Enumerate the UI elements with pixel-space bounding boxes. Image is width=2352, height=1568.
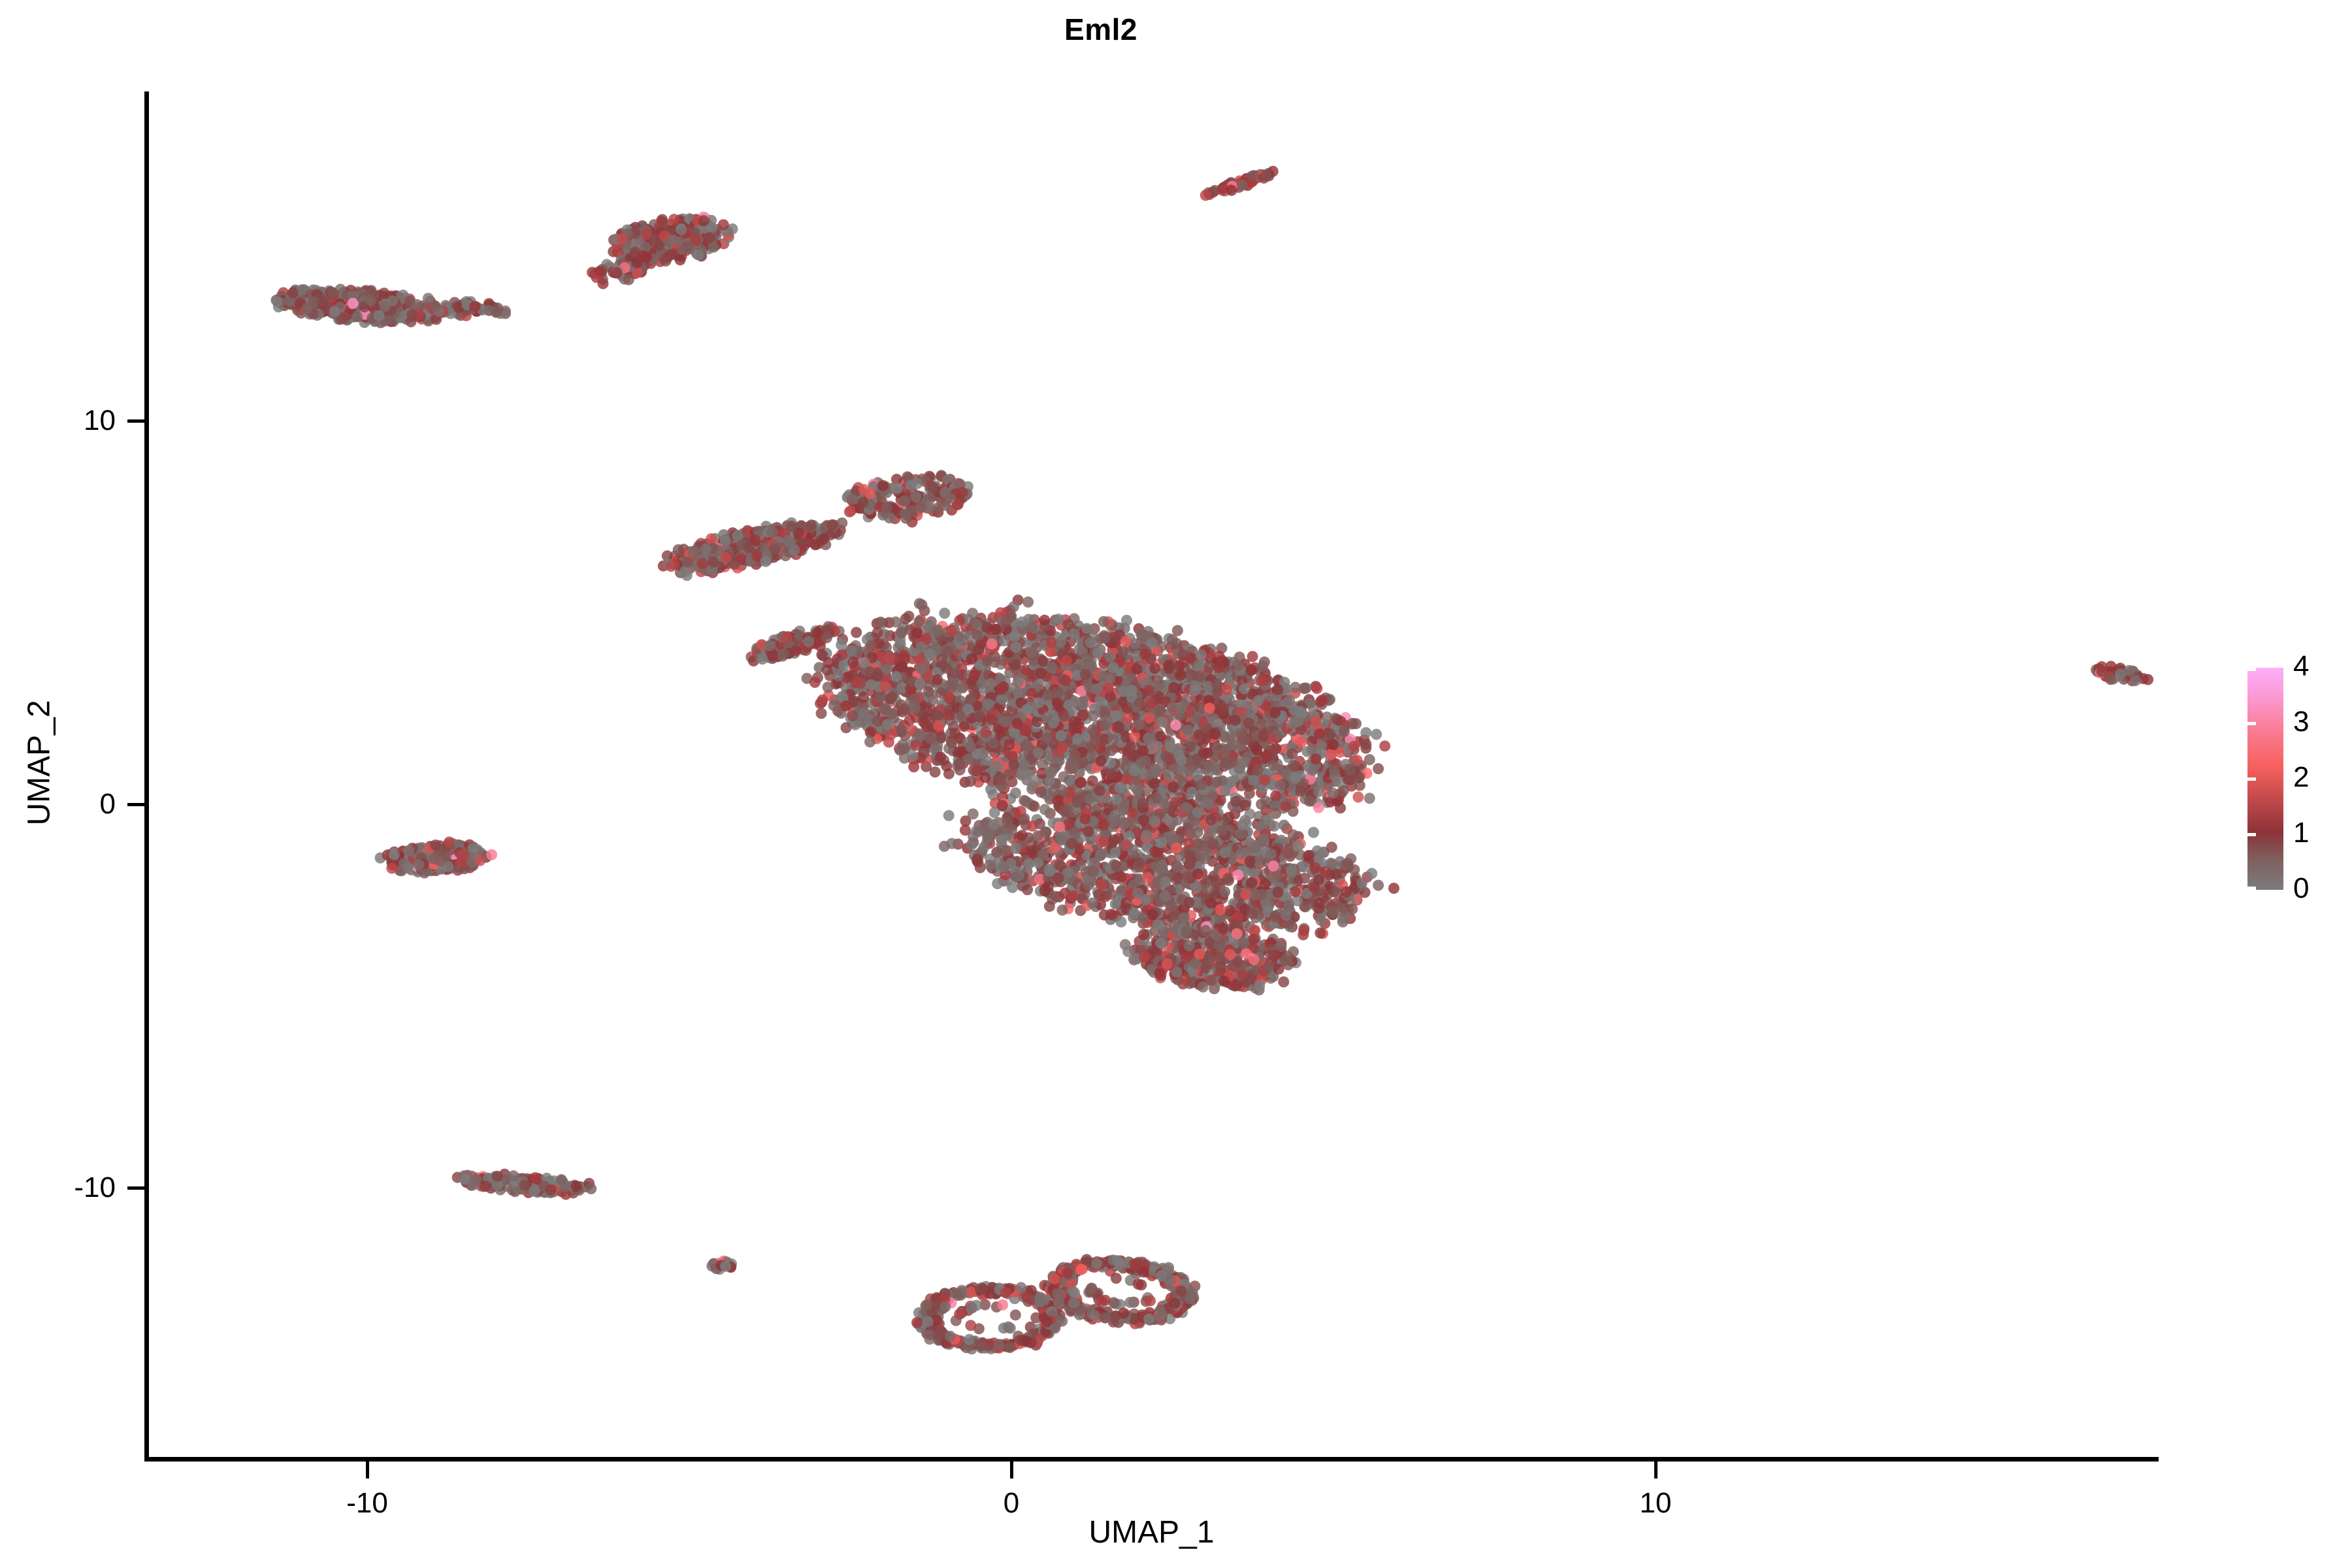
colorbar-tick-mark [2247,777,2256,781]
colorbar-tick-mark [2337,833,2345,836]
scatter-points-layer [144,91,2159,1461]
colorbar-label: 3 [2293,708,2309,736]
x-tick-label: 10 [1590,1489,1721,1518]
x-tick-mark [1010,1462,1013,1478]
colorbar-tick-mark [2337,887,2345,890]
page-title: Eml2 [0,12,2202,47]
y-axis-title: UMAP_2 [22,371,57,1155]
y-axis-line [144,91,149,1461]
plot-panel [144,91,2159,1461]
x-axis-line [144,1457,2159,1462]
umap-feature-plot: Eml2 100-10 -10010 UMAP_1 UMAP_2 43210 [0,0,2352,1568]
colorbar-tick-mark [2247,833,2256,836]
colorbar-tick-mark [2247,668,2256,671]
color-legend: 43210 [2247,668,2345,890]
y-tick-label: -10 [11,1173,116,1202]
colorbar-tick-mark [2337,777,2345,781]
colorbar-label: 4 [2293,652,2309,681]
colorbar-tick-mark [2247,722,2256,725]
colorbar-label: 0 [2293,874,2309,903]
x-tick-label: 0 [946,1489,1077,1518]
x-axis-title: UMAP_1 [144,1514,2159,1550]
y-tick-mark [127,419,144,423]
colorbar-tick-mark [2337,722,2345,725]
x-tick-label: -10 [302,1489,433,1518]
scatter-svg [144,91,2159,1461]
colorbar-tick-mark [2337,668,2345,671]
x-tick-mark [1654,1462,1658,1478]
colorbar-tick-mark [2247,887,2256,890]
y-tick-mark [127,1186,144,1190]
colorbar-label: 1 [2293,819,2309,847]
x-tick-mark [366,1462,369,1478]
colorbar-label: 2 [2293,763,2309,792]
y-tick-mark [127,803,144,806]
